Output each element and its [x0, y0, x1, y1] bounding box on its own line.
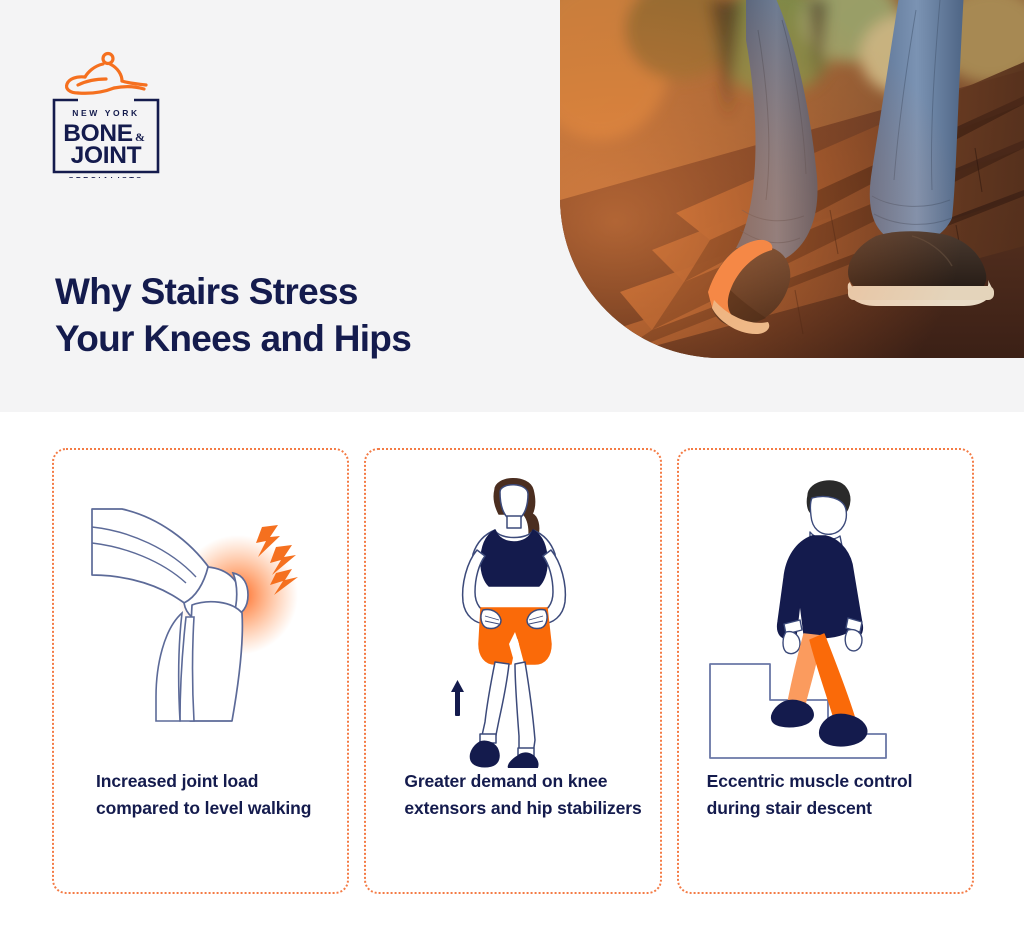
reclining-figure-icon	[67, 54, 146, 94]
logo-joint-text: JOINT	[71, 142, 142, 169]
fibula-bone	[180, 617, 194, 721]
card-2-caption: Greater demand on knee extensors and hip…	[380, 768, 645, 822]
man-descending-stairs-icon	[700, 468, 950, 768]
calf-outline	[156, 613, 182, 721]
card-3-caption: Eccentric muscle control during stair de…	[693, 768, 958, 822]
left-leg	[481, 662, 509, 740]
right-shoe	[508, 753, 537, 768]
right-hand	[846, 630, 863, 651]
cards-row: Increased joint load compared to level w…	[52, 448, 974, 894]
card-1-caption: Increased joint load compared to level w…	[68, 768, 333, 822]
hero-photo	[560, 0, 1024, 358]
woman-hands-on-hips-icon	[433, 468, 593, 768]
upward-force-arrow-icon	[451, 680, 464, 716]
card-knee-extensor-demand[interactable]: Greater demand on knee extensors and hip…	[364, 448, 661, 894]
page-title-line-2: Your Knees and Hips	[55, 315, 525, 362]
page-title-line-1: Why Stairs Stress	[55, 271, 358, 312]
card-1-art	[68, 468, 333, 768]
logo-subtitle-text: SPECIALISTS	[68, 175, 143, 178]
card-2-art	[380, 468, 645, 768]
stairs-photo-illustration	[560, 0, 1024, 358]
left-shoe	[470, 741, 499, 767]
right-leg	[515, 662, 535, 754]
left-hand	[783, 632, 800, 654]
card-3-art	[693, 468, 958, 768]
logo-eyebrow-text: NEW YORK	[72, 108, 139, 118]
knee-joint-pain-icon	[86, 473, 316, 763]
card-eccentric-control[interactable]: Eccentric muscle control during stair de…	[677, 448, 974, 894]
infographic-page: NEW YORK BONE & JOINT SPECIALISTS Why St…	[0, 0, 1024, 948]
logo-svg: NEW YORK BONE & JOINT SPECIALISTS	[48, 48, 164, 178]
page-title: Why Stairs Stress Your Knees and Hips	[55, 268, 525, 363]
tibia-bone	[190, 602, 242, 721]
brand-logo[interactable]: NEW YORK BONE & JOINT SPECIALISTS	[48, 48, 164, 178]
front-shoe	[820, 714, 867, 746]
face	[811, 497, 847, 535]
card-increased-joint-load[interactable]: Increased joint load compared to level w…	[52, 448, 349, 894]
